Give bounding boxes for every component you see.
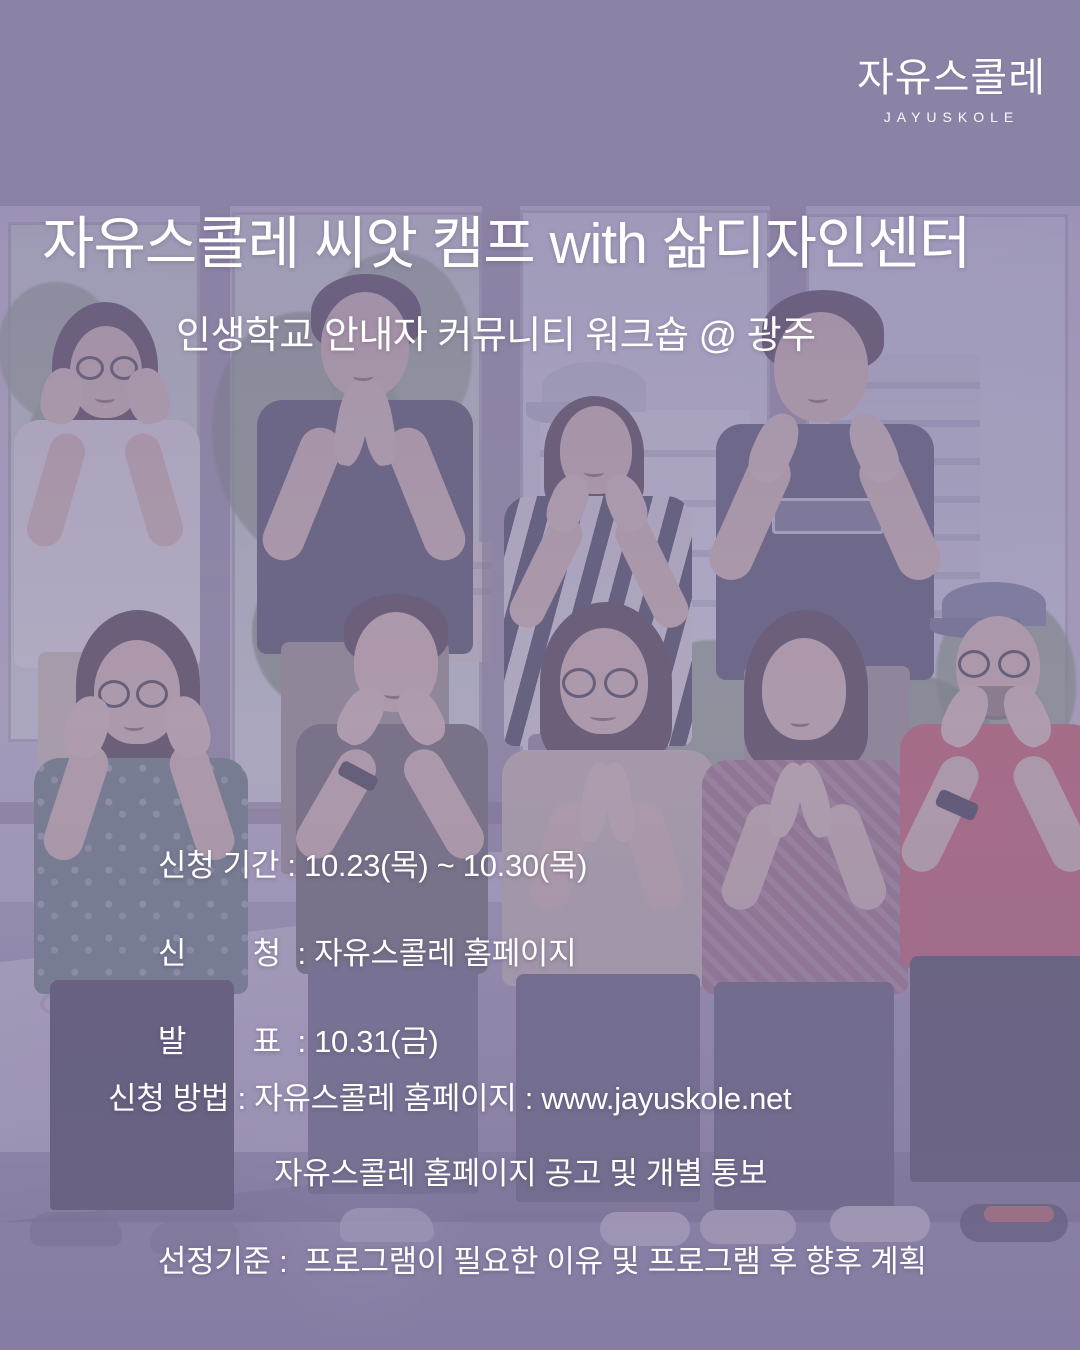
- apply-url-line[interactable]: 신청 방법 : 자유스콜레 홈페이지 : www.jayuskole.net: [108, 1077, 791, 1121]
- brand-logo: 자유스콜레 JAYUSKOLE: [857, 58, 1046, 125]
- detail-line-announcement-date: 발 표 : 10.31(금): [158, 1024, 439, 1059]
- brand-logo-en: JAYUSKOLE: [857, 109, 1046, 125]
- poster-root: 자유스콜레 JAYUSKOLE 자유스콜레 씨앗 캠프 with 삶디자인센터 …: [0, 0, 1080, 1350]
- detail-line-application-method: 신 청 : 자유스콜레 홈페이지: [158, 936, 577, 971]
- detail-line-application-period: 신청 기간 : 10.23(목) ~ 10.30(목): [158, 848, 587, 883]
- brand-logo-ko: 자유스콜레: [857, 58, 1046, 98]
- page-subtitle: 인생학교 안내자 커뮤니티 워크숍 @ 광주: [176, 316, 816, 358]
- page-title: 자유스콜레 씨앗 캠프 with 삶디자인센터: [42, 214, 970, 274]
- footer: 주최 · 주관 자유스콜레 JAYUSKOLE 광주광역시 GWANGJU: [0, 1190, 1080, 1310]
